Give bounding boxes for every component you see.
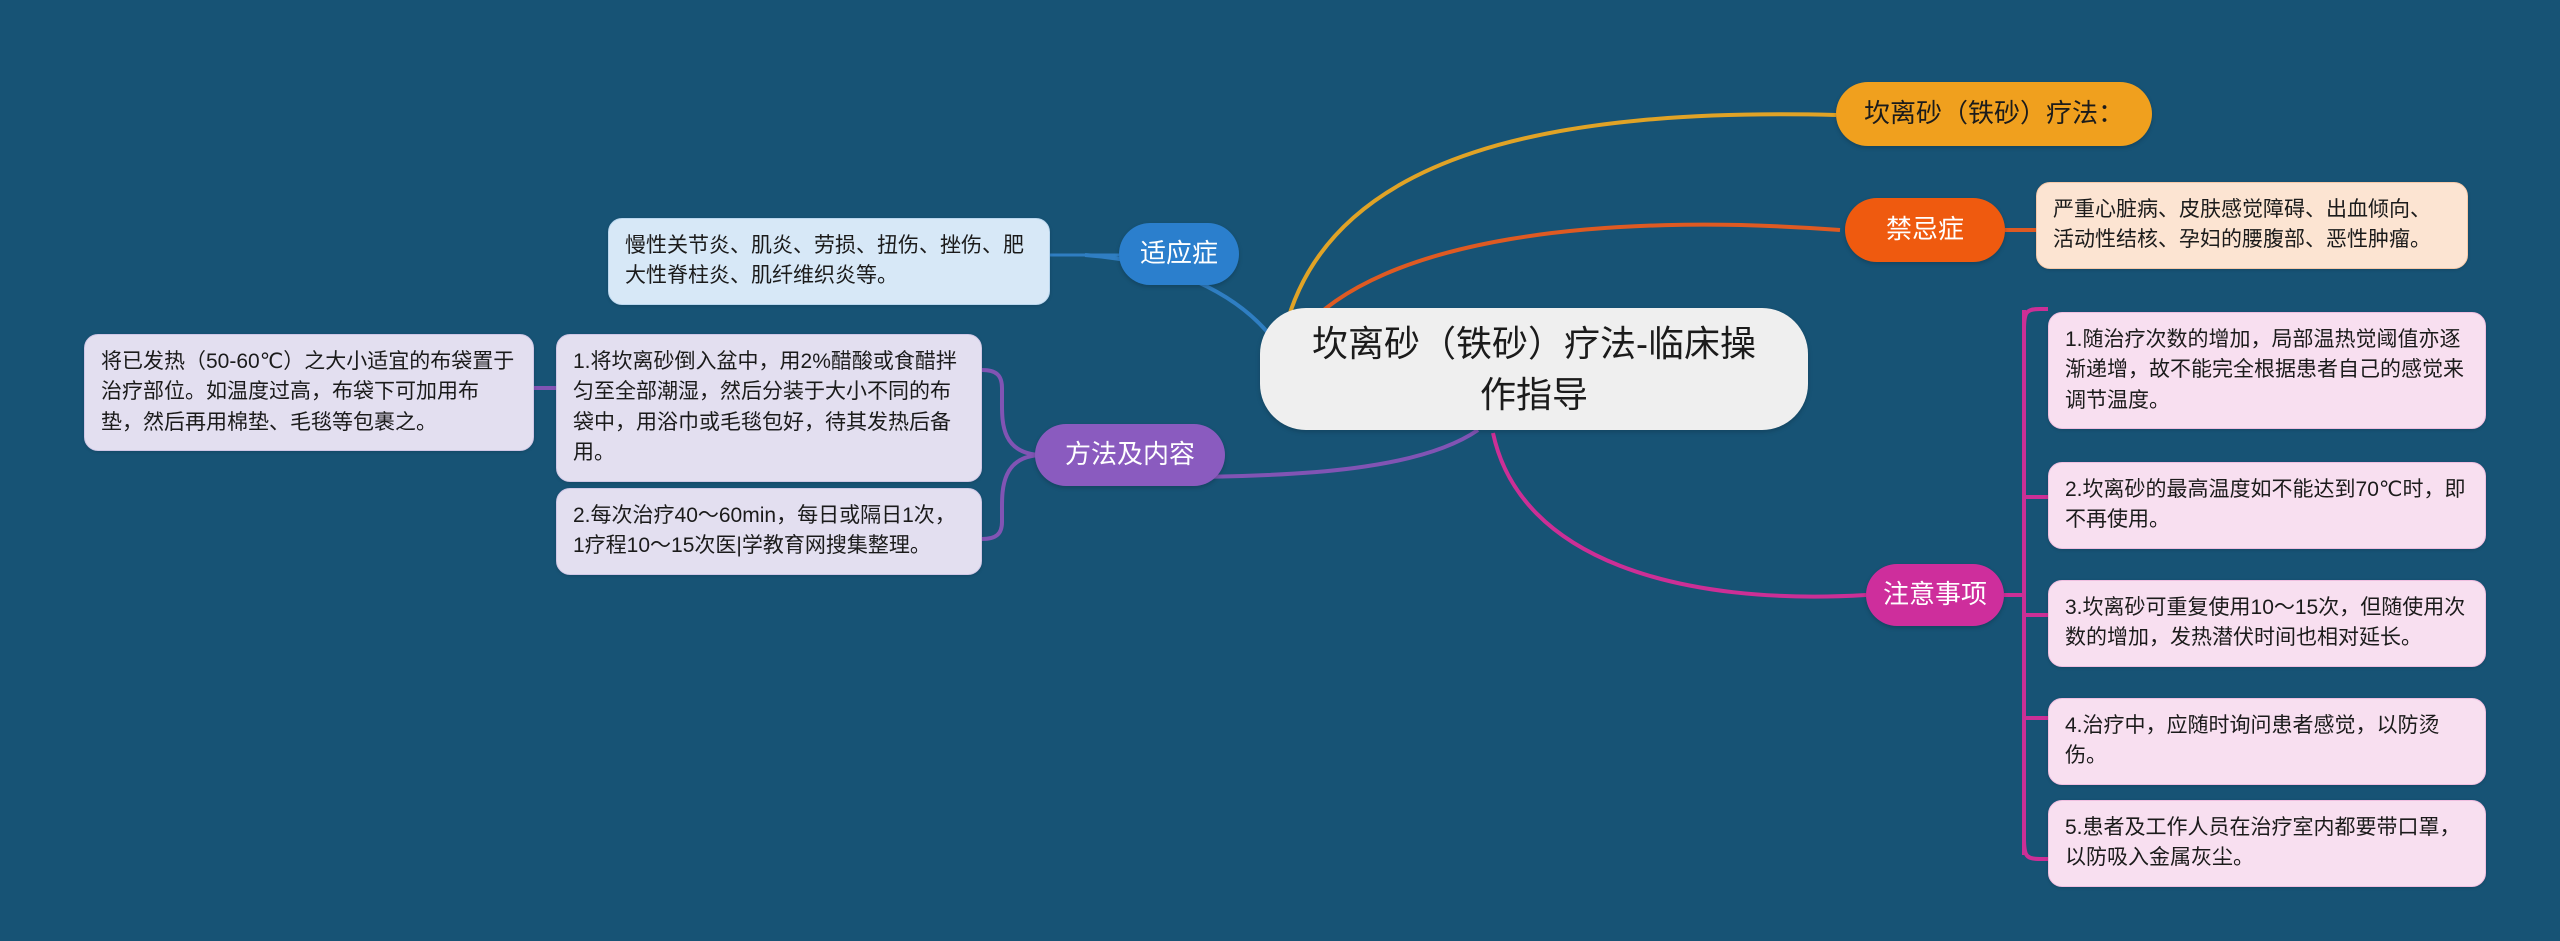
branch-indications-label: 适应症 (1140, 238, 1218, 269)
methods-step-1-detail-text: 将已发热（50-60℃）之大小适宜的布袋置于治疗部位。如温度过高，布袋下可加用布… (101, 350, 514, 434)
branch-methods-label: 方法及内容 (1065, 439, 1195, 470)
methods-step-2-text: 2.每次治疗40～60min，每日或隔日1次，1疗程10～15次医|学教育网搜集… (573, 504, 956, 557)
indications-detail-text: 慢性关节炎、肌炎、劳损、扭伤、挫伤、肥大性脊柱炎、肌纤维织炎等。 (625, 234, 1024, 287)
caution-item-3[interactable]: 3.坎离砂可重复使用10～15次，但随使用次数的增加，发热潜伏时间也相对延长。 (2048, 580, 2486, 667)
methods-step-1[interactable]: 1.将坎离砂倒入盆中，用2%醋酸或食醋拌匀至全部潮湿，然后分装于大小不同的布袋中… (556, 334, 982, 482)
central-topic-label: 坎离砂（铁砂）疗法-临床操作指导 (1300, 318, 1768, 420)
wire-central-therapy (1285, 114, 1836, 330)
branch-methods[interactable]: 方法及内容 (1035, 424, 1225, 486)
caution-item-3-text: 3.坎离砂可重复使用10～15次，但随使用次数的增加，发热潜伏时间也相对延长。 (2065, 596, 2465, 649)
branch-cautions-label: 注意事项 (1883, 579, 1987, 610)
wire-caution-5 (2024, 838, 2048, 859)
caution-item-1[interactable]: 1.随治疗次数的增加，局部温热觉阈值亦逐渐递增，故不能完全根据患者自己的感觉来调… (2048, 312, 2486, 429)
caution-item-5[interactable]: 5.患者及工作人员在治疗室内都要带口罩，以防吸入金属灰尘。 (2048, 800, 2486, 887)
caution-item-2[interactable]: 2.坎离砂的最高温度如不能达到70℃时，即不再使用。 (2048, 462, 2486, 549)
mindmap-canvas: 坎离砂（铁砂）疗法-临床操作指导 坎离砂（铁砂）疗法： 禁忌症 严重心脏病、皮肤… (0, 0, 2560, 941)
branch-therapy[interactable]: 坎离砂（铁砂）疗法： (1836, 82, 2152, 146)
methods-step-1-detail[interactable]: 将已发热（50-60℃）之大小适宜的布袋置于治疗部位。如温度过高，布袋下可加用布… (84, 334, 534, 451)
methods-step-1-text: 1.将坎离砂倒入盆中，用2%醋酸或食醋拌匀至全部潮湿，然后分装于大小不同的布袋中… (573, 350, 957, 464)
branch-contraindications-label: 禁忌症 (1886, 214, 1964, 245)
wire-central-cautions (1493, 433, 1866, 597)
indications-detail[interactable]: 慢性关节炎、肌炎、劳损、扭伤、挫伤、肥大性脊柱炎、肌纤维织炎等。 (608, 218, 1050, 305)
contraindications-detail[interactable]: 严重心脏病、皮肤感觉障碍、出血倾向、活动性结核、孕妇的腰腹部、恶性肿瘤。 (2036, 182, 2468, 269)
branch-cautions[interactable]: 注意事项 (1866, 564, 2004, 626)
branch-indications[interactable]: 适应症 (1119, 223, 1239, 285)
wire-central-methods (1190, 430, 1478, 477)
wire-cautions-spine (2004, 310, 2024, 855)
caution-item-4-text: 4.治疗中，应随时询问患者感觉，以防烫伤。 (2065, 714, 2440, 767)
caution-item-4[interactable]: 4.治疗中，应随时询问患者感觉，以防烫伤。 (2048, 698, 2486, 785)
central-topic[interactable]: 坎离砂（铁砂）疗法-临床操作指导 (1260, 308, 1808, 430)
methods-step-2[interactable]: 2.每次治疗40～60min，每日或隔日1次，1疗程10～15次医|学教育网搜集… (556, 488, 982, 575)
branch-therapy-label: 坎离砂（铁砂）疗法： (1864, 98, 2124, 129)
branch-contraindications[interactable]: 禁忌症 (1845, 198, 2005, 262)
caution-item-5-text: 5.患者及工作人员在治疗室内都要带口罩，以防吸入金属灰尘。 (2065, 816, 2461, 869)
caution-item-1-text: 1.随治疗次数的增加，局部温热觉阈值亦逐渐递增，故不能完全根据患者自己的感觉来调… (2065, 328, 2464, 412)
wire-caution-1 (2024, 309, 2048, 330)
contraindications-detail-text: 严重心脏病、皮肤感觉障碍、出血倾向、活动性结核、孕妇的腰腹部、恶性肿瘤。 (2053, 198, 2431, 251)
caution-item-2-text: 2.坎离砂的最高温度如不能达到70℃时，即不再使用。 (2065, 478, 2465, 531)
